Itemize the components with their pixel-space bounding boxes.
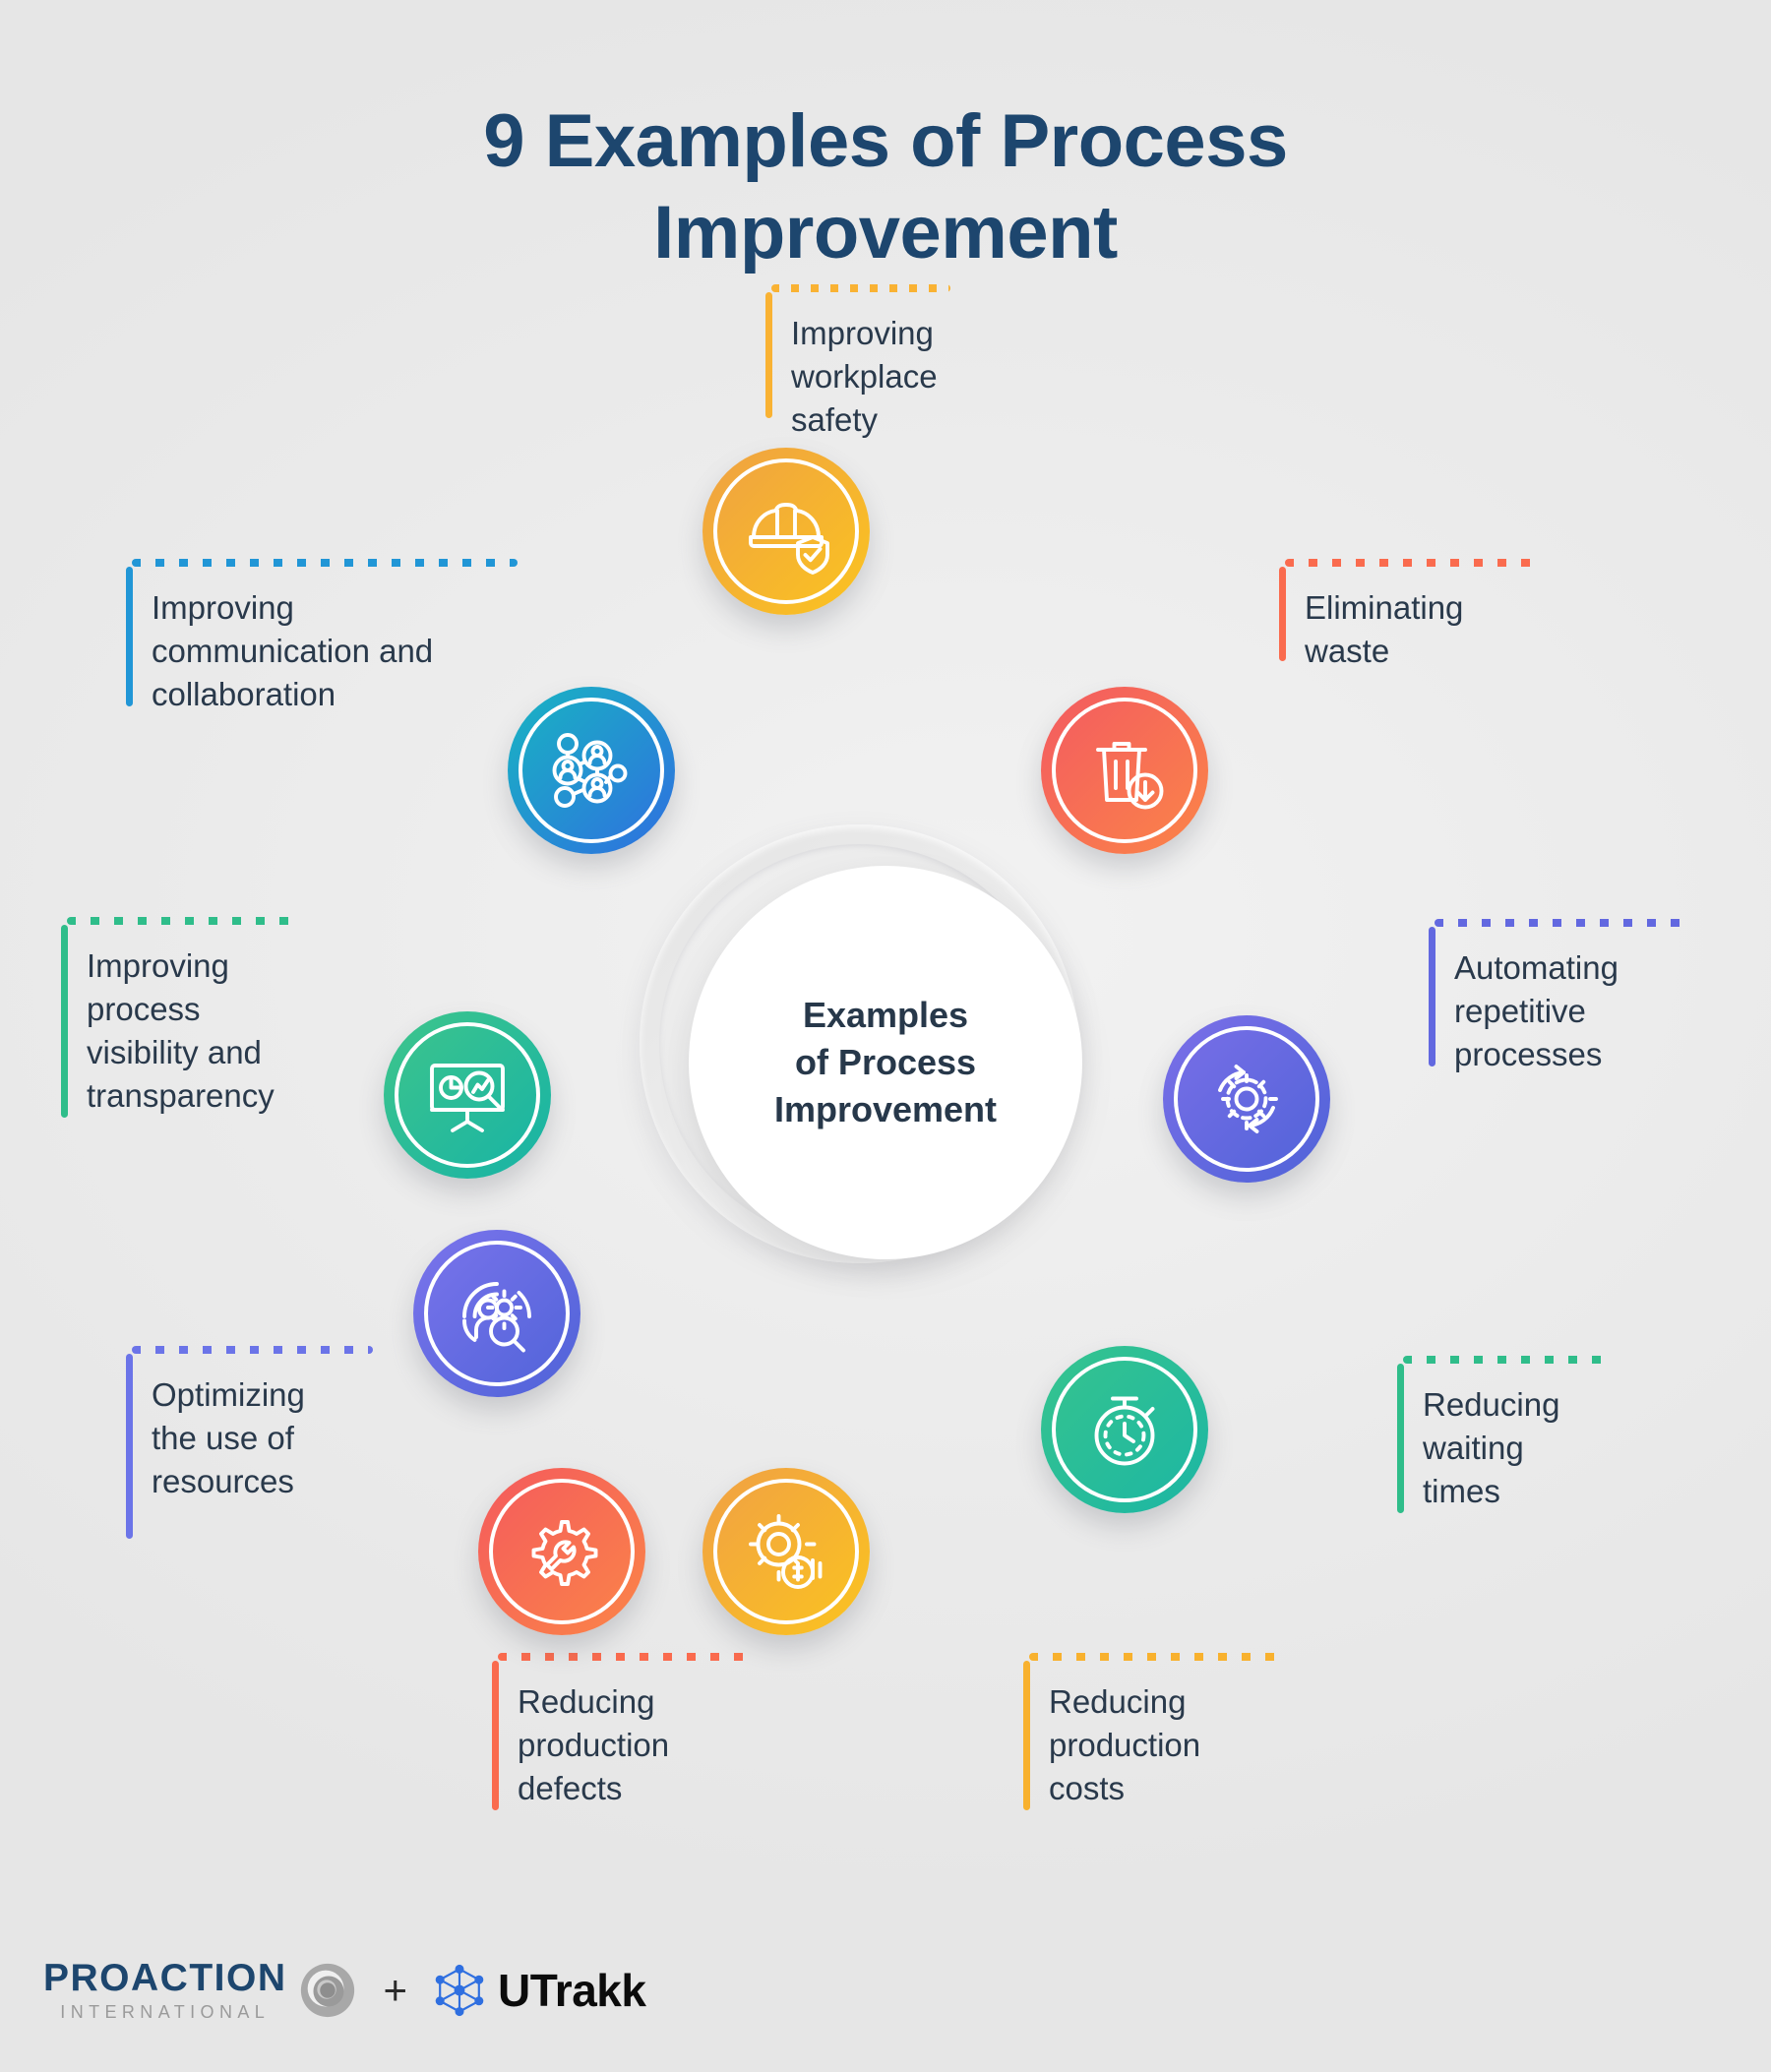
bubble-process-visibility[interactable]: [384, 1011, 551, 1179]
bubble-reducing-production-costs[interactable]: [702, 1468, 870, 1635]
label-dotted-line: [1029, 1653, 1280, 1661]
label-accent-bar: [126, 1354, 133, 1539]
label-dotted-line: [1403, 1356, 1610, 1364]
label-text: Reducing production costs: [1049, 1653, 1309, 1810]
page-title: 9 Examples of Process Improvement: [0, 96, 1771, 278]
trash-bin-down-arrow-icon: [1077, 723, 1172, 818]
label-text: Automating repetitive processes: [1454, 919, 1714, 1076]
label-dotted-line: [498, 1653, 749, 1661]
proaction-logo: PROACTION INTERNATIONAL: [43, 1959, 358, 2021]
label-automating-processes: Automating repetitive processes: [1429, 919, 1714, 1076]
label-workplace-safety: Improving workplace safety: [765, 284, 1051, 442]
people-gear-magnifier-icon: [450, 1266, 544, 1361]
label-communication-collaboration: Improving communication and collaboratio…: [126, 559, 539, 716]
proaction-spiral-icon: [297, 1960, 358, 2021]
label-accent-bar: [1429, 927, 1435, 1066]
label-dotted-line: [132, 1346, 373, 1354]
utrakk-wordmark: UTrakk: [498, 1964, 645, 2017]
bubble-reducing-production-defects[interactable]: [478, 1468, 645, 1635]
bubble-workplace-safety[interactable]: [702, 448, 870, 615]
hard-hat-shield-icon: [739, 484, 833, 579]
label-accent-bar: [492, 1661, 499, 1810]
label-text: Eliminating waste: [1305, 559, 1574, 673]
utrakk-network-icon: [433, 1962, 486, 2019]
label-accent-bar: [765, 292, 772, 418]
plus-separator: +: [384, 1967, 408, 2014]
bubble-optimizing-resources[interactable]: [413, 1230, 580, 1397]
label-text: Optimizing the use of resources: [152, 1346, 411, 1503]
label-accent-bar: [61, 925, 68, 1118]
bubble-reducing-waiting-times[interactable]: [1041, 1346, 1208, 1513]
stopwatch-icon: [1077, 1382, 1172, 1477]
label-optimizing-resources: Optimizing the use of resources: [126, 1346, 411, 1503]
label-dotted-line: [132, 559, 518, 567]
label-eliminating-waste: Eliminating waste: [1279, 559, 1574, 673]
utrakk-logo: UTrakk: [433, 1962, 645, 2019]
label-dotted-line: [771, 284, 950, 292]
footer-logos: PROACTION INTERNATIONAL +: [43, 1959, 645, 2021]
label-accent-bar: [1279, 567, 1286, 661]
label-reducing-waiting-times: Reducing waiting times: [1397, 1356, 1682, 1513]
label-text: Improving communication and collaboratio…: [152, 559, 539, 716]
label-dotted-line: [1435, 919, 1685, 927]
hub-center-circle: Examples of Process Improvement: [689, 866, 1082, 1259]
label-text: Improving process visibility and transpa…: [87, 917, 346, 1118]
label-text: Reducing production defects: [518, 1653, 777, 1810]
gear-refresh-cycle-icon: [1199, 1052, 1294, 1146]
label-dotted-line: [1285, 559, 1536, 567]
gear-coins-icon: [739, 1504, 833, 1599]
proaction-name: PROACTION: [43, 1959, 287, 1997]
bubble-automating-processes[interactable]: [1163, 1015, 1330, 1183]
label-text: Improving workplace safety: [791, 284, 1051, 442]
label-accent-bar: [1023, 1661, 1030, 1810]
gear-wrench-icon: [515, 1504, 609, 1599]
people-network-icon: [544, 723, 639, 818]
label-reducing-production-costs: Reducing production costs: [1023, 1653, 1309, 1810]
proaction-wordmark: PROACTION INTERNATIONAL: [43, 1959, 287, 2021]
label-accent-bar: [1397, 1364, 1404, 1513]
bubble-eliminating-waste[interactable]: [1041, 687, 1208, 854]
bubble-communication-collaboration[interactable]: [508, 687, 675, 854]
infographic-page: 9 Examples of Process Improvement Improv…: [0, 0, 1771, 2072]
label-text: Reducing waiting times: [1423, 1356, 1682, 1513]
label-process-visibility: Improving process visibility and transpa…: [61, 917, 346, 1118]
proaction-tagline: INTERNATIONAL: [43, 2003, 287, 2021]
label-reducing-production-defects: Reducing production defects: [492, 1653, 777, 1810]
label-dotted-line: [67, 917, 303, 925]
chart-board-magnifier-icon: [420, 1048, 515, 1142]
label-accent-bar: [126, 567, 133, 706]
hub-center-text: Examples of Process Improvement: [774, 992, 997, 1134]
